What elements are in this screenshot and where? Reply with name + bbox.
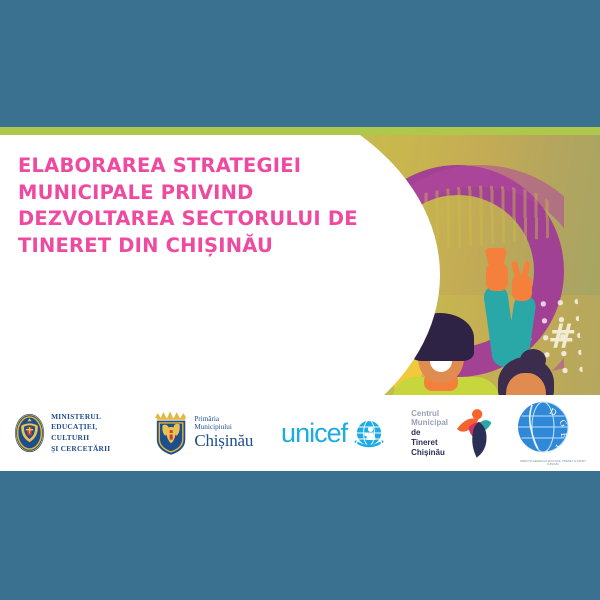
cmtc-line-3: de Tineret xyxy=(411,428,449,448)
banner: # ELABORAREA STRATEGIEI MUNICIPALE PRIVI… xyxy=(0,135,600,395)
headline-backdrop-lower xyxy=(0,285,330,395)
unicef-logo: unicef xyxy=(281,417,385,449)
page-title: ELABORAREA STRATEGIEI MUNICIPALE PRIVIND… xyxy=(18,153,358,259)
ministry-education-culture-research-logo: MINISTERUL EDUCAȚIEI, CULTURII ȘI CERCET… xyxy=(14,411,130,455)
dgets-logo: D G E T S DIRECȚIA GENERALĂ EDUCAȚIE, TI… xyxy=(516,400,590,467)
hashtag-icon: # xyxy=(548,317,577,357)
ministry-line-3: ȘI CERCETĂRII xyxy=(51,444,130,455)
page-title-line-4: TINERET DIN CHIȘINĂU xyxy=(18,233,358,260)
centrul-municipal-tineret-chisinau-logo: Centrul Municipal de Tineret Chișinău xyxy=(411,407,494,459)
poster-card: # ELABORAREA STRATEGIEI MUNICIPALE PRIVI… xyxy=(0,135,600,471)
unicef-wordmark: unicef xyxy=(281,420,347,447)
figure-right-bun xyxy=(520,349,546,371)
cmtc-line-4: Chișinău xyxy=(411,448,449,458)
chisinau-coat-of-arms-icon xyxy=(154,409,188,457)
ministry-line-1: MINISTERUL xyxy=(51,412,130,423)
accent-bar xyxy=(0,127,600,135)
abstract-human-figure-icon xyxy=(455,407,494,459)
city-hall-logo-text: Primăria Municipiului Chișinău xyxy=(194,416,255,450)
figure-centre-hand-right xyxy=(486,263,508,291)
blue-globe-icon: D G E T S xyxy=(516,400,570,454)
un-globe-mother-child-icon xyxy=(353,417,385,449)
svg-text:E: E xyxy=(559,432,569,439)
dgets-logo-group: D G E T S DIRECȚIA GENERALĂ EDUCAȚIE, TI… xyxy=(516,400,590,467)
figure-centre-flag xyxy=(488,248,504,264)
dgets-subtitle: DIRECȚIA GENERALĂ EDUCAȚIE, TINERET ȘI S… xyxy=(516,460,590,467)
svg-text:T: T xyxy=(553,442,565,451)
ministry-line-2: EDUCAȚIEI, CULTURII xyxy=(51,422,130,443)
figure-right-hand xyxy=(512,275,532,301)
moldova-state-seal-icon xyxy=(14,411,45,455)
logo-bar: MINISTERUL EDUCAȚIEI, CULTURII ȘI CERCET… xyxy=(0,395,600,471)
cmtc-line-1: Centrul xyxy=(411,409,449,419)
cmtc-logo-text: Centrul Municipal de Tineret Chișinău xyxy=(411,409,449,458)
city-hall-line-big: Chișinău xyxy=(194,432,255,450)
page-title-line-2: MUNICIPALE PRIVIND xyxy=(18,180,358,207)
ministry-logo-text: MINISTERUL EDUCAȚIEI, CULTURII ȘI CERCET… xyxy=(51,412,130,454)
poster: # ELABORAREA STRATEGIEI MUNICIPALE PRIVI… xyxy=(0,0,600,600)
cmtc-line-2: Municipal xyxy=(411,418,449,428)
chisinau-city-hall-logo: Primăria Municipiului Chișinău xyxy=(154,409,255,457)
page-title-line-3: DEZVOLTAREA SECTORULUI DE xyxy=(18,206,358,233)
city-hall-line-small: Primăria Municipiului xyxy=(194,416,255,432)
page-title-line-1: ELABORAREA STRATEGIEI xyxy=(18,153,358,180)
